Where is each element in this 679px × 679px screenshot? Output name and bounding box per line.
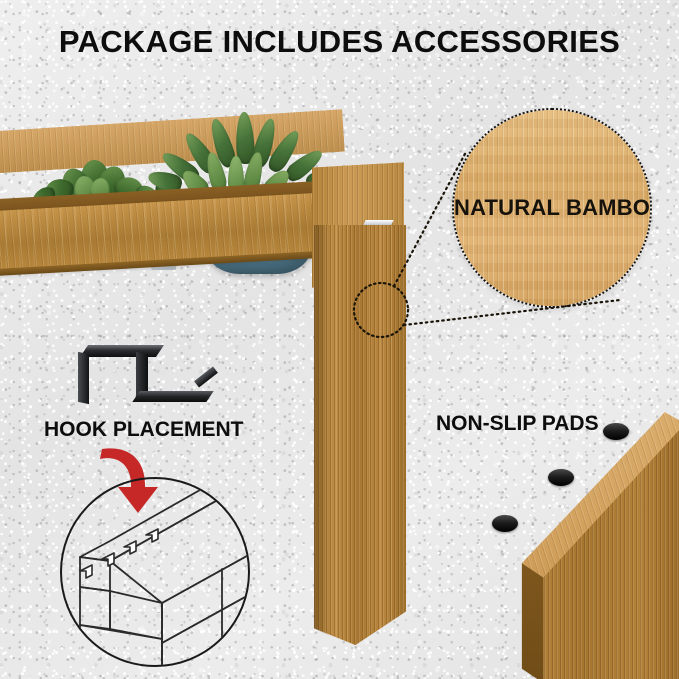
bamboo-plank-with-pads [460, 398, 679, 679]
non-slip-pad-2 [548, 469, 574, 486]
natural-bamboo-callout: NATURAL BAMBOO [452, 108, 652, 308]
non-slip-pad-1 [603, 423, 629, 440]
shelf-line-drawing [62, 479, 248, 665]
natural-bamboo-label: NATURAL BAMBOO [454, 195, 650, 221]
non-slip-pad-3 [492, 515, 518, 532]
hook-placement-diagram [60, 477, 250, 667]
hook-left-leg [78, 352, 89, 404]
hook-top-bar [80, 345, 164, 357]
hook-bottom-bar [132, 391, 213, 402]
page-title: PACKAGE INCLUDES ACCESSORIES [0, 24, 679, 60]
product-infographic: PACKAGE INCLUDES ACCESSORIES [0, 0, 679, 679]
shelf-vertical-leg [314, 225, 406, 645]
hook-placement-label: HOOK PLACEMENT [44, 418, 284, 442]
metal-hook-icon [78, 341, 208, 403]
